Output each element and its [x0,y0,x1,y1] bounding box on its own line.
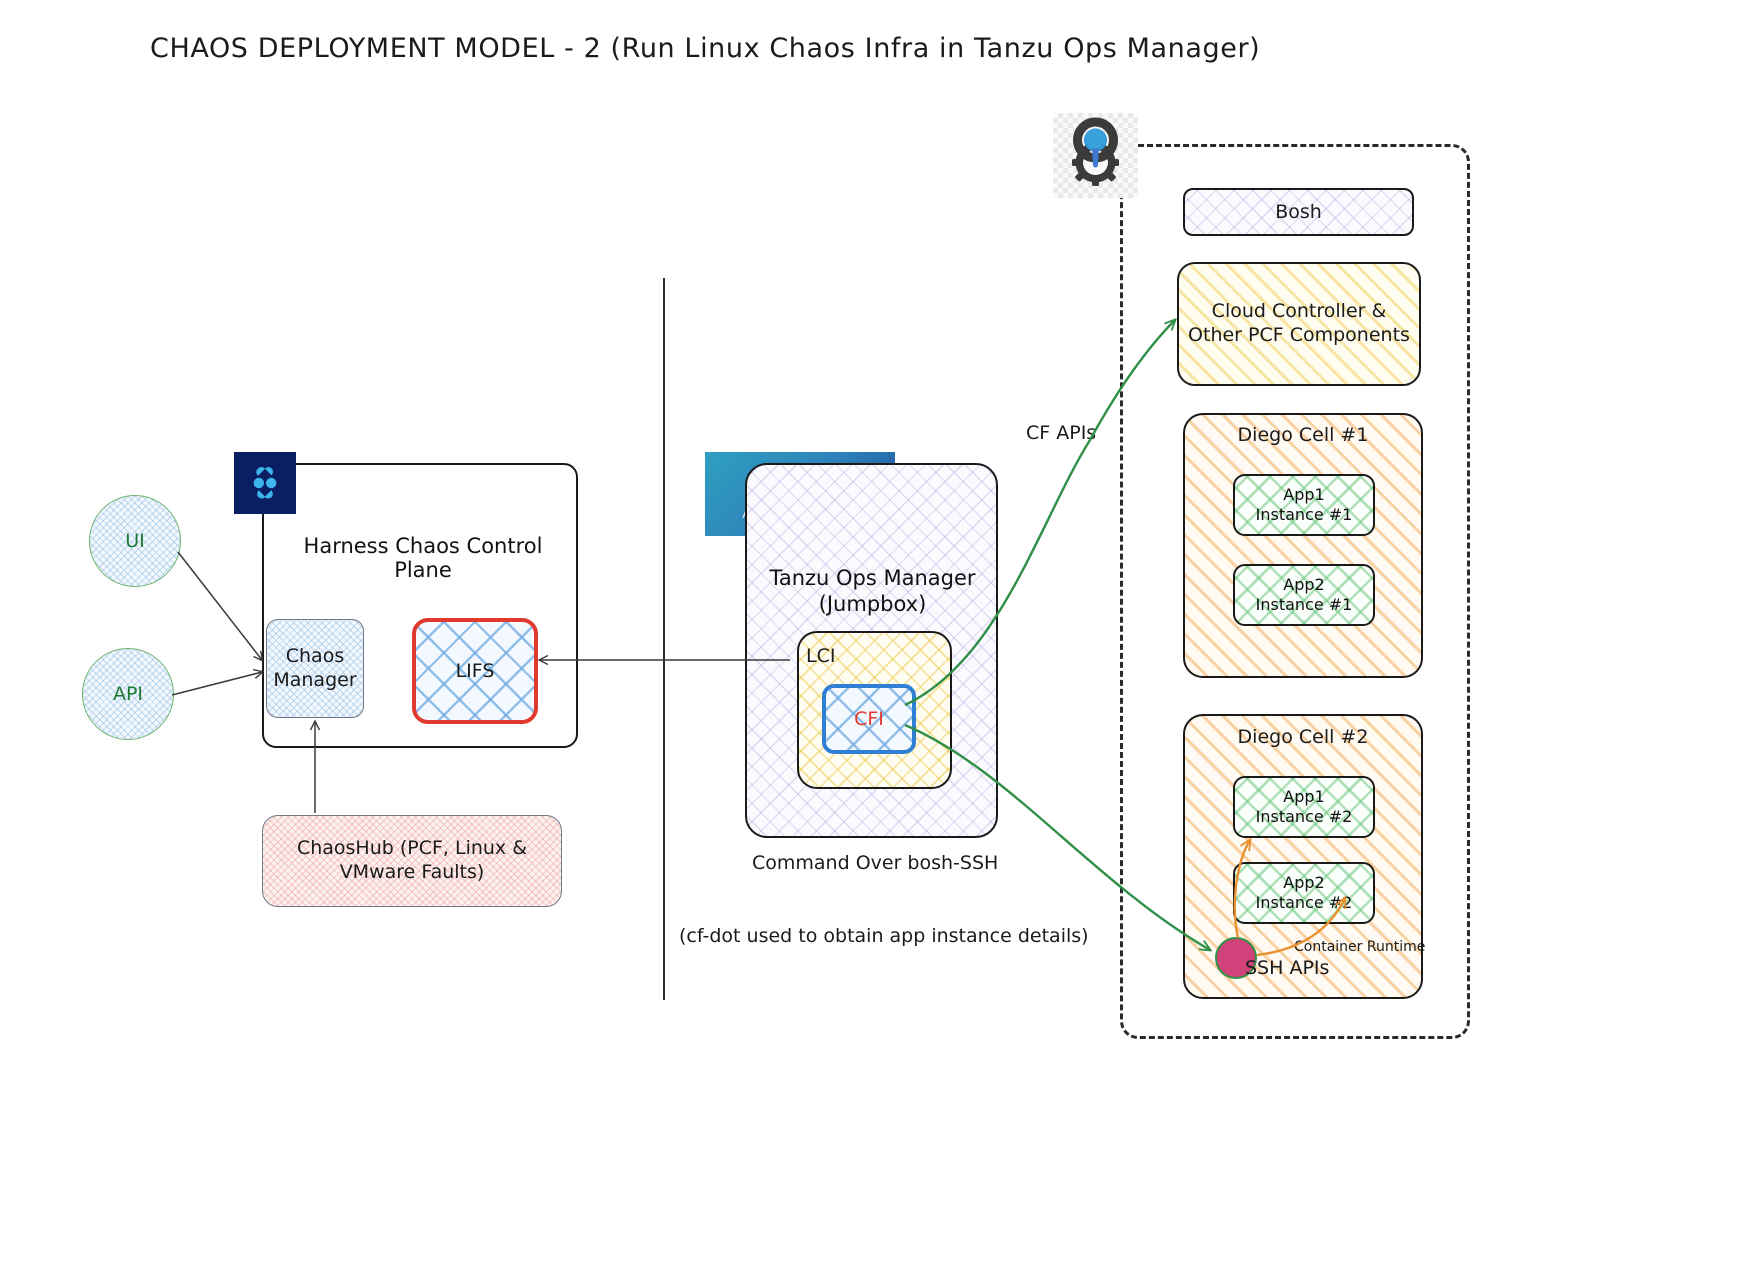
harness-logo [234,452,296,514]
ops-manager-title: Tanzu Ops Manager (Jumpbox) [755,565,990,618]
vertical-divider [663,278,665,1000]
app2-instance1-label: App2 Instance #1 [1256,575,1353,615]
chaos-manager-label: Chaos Manager [273,645,356,693]
bosh-box[interactable]: Bosh [1183,188,1414,236]
lifs-label: LIFS [456,660,495,682]
chaos-manager-box[interactable]: Chaos Manager [266,619,364,718]
caption-cf-dot: (cf-dot used to obtain app instance deta… [679,925,1089,947]
edge-ui-to-chaos-manager [178,552,262,660]
app1-instance1-box[interactable]: App1 Instance #1 [1233,474,1375,536]
cloud-controller-label: Cloud Controller & Other PCF Components [1188,300,1410,348]
ssh-apis-label: SSH APIs [1245,957,1329,979]
page-title: CHAOS DEPLOYMENT MODEL - 2 (Run Linux Ch… [150,33,1260,64]
cf-apis-label: CF APIs [1026,422,1096,444]
cfi-label: CFI [854,708,884,730]
container-runtime-label: Container Runtime [1294,939,1425,955]
caption-bosh-ssh: Command Over bosh-SSH [752,852,998,874]
app2-instance2-box[interactable]: App2 Instance #2 [1233,862,1375,924]
lifs-box[interactable]: LIFS [412,618,538,724]
cloud-foundry-logo [1053,113,1138,198]
diego-cell-1-label: Diego Cell #1 [1183,424,1423,446]
app2-instance1-box[interactable]: App2 Instance #1 [1233,564,1375,626]
cfi-box[interactable]: CFI [822,684,916,754]
ui-node[interactable]: UI [89,495,181,587]
api-node-label: API [113,683,143,705]
api-node[interactable]: API [82,648,174,740]
app2-instance2-label: App2 Instance #2 [1256,873,1353,913]
diagram-canvas: CHAOS DEPLOYMENT MODEL - 2 (Run Linux Ch… [0,0,1759,1269]
diego-cell-2-label: Diego Cell #2 [1183,726,1423,748]
app1-instance2-label: App1 Instance #2 [1256,787,1353,827]
cloud-controller-box[interactable]: Cloud Controller & Other PCF Components [1177,262,1421,386]
app1-instance2-box[interactable]: App1 Instance #2 [1233,776,1375,838]
chaoshub-label: ChaosHub (PCF, Linux & VMware Faults) [297,837,527,885]
bosh-label: Bosh [1275,201,1322,223]
edge-api-to-chaos-manager [172,672,262,695]
lci-label: LCI [806,645,835,667]
chaoshub-box[interactable]: ChaosHub (PCF, Linux & VMware Faults) [262,815,562,907]
control-plane-title: Harness Chaos Control Plane [288,534,558,582]
ui-node-label: UI [125,530,145,552]
diego-cell-1-box [1183,413,1423,678]
app1-instance1-label: App1 Instance #1 [1256,485,1353,525]
